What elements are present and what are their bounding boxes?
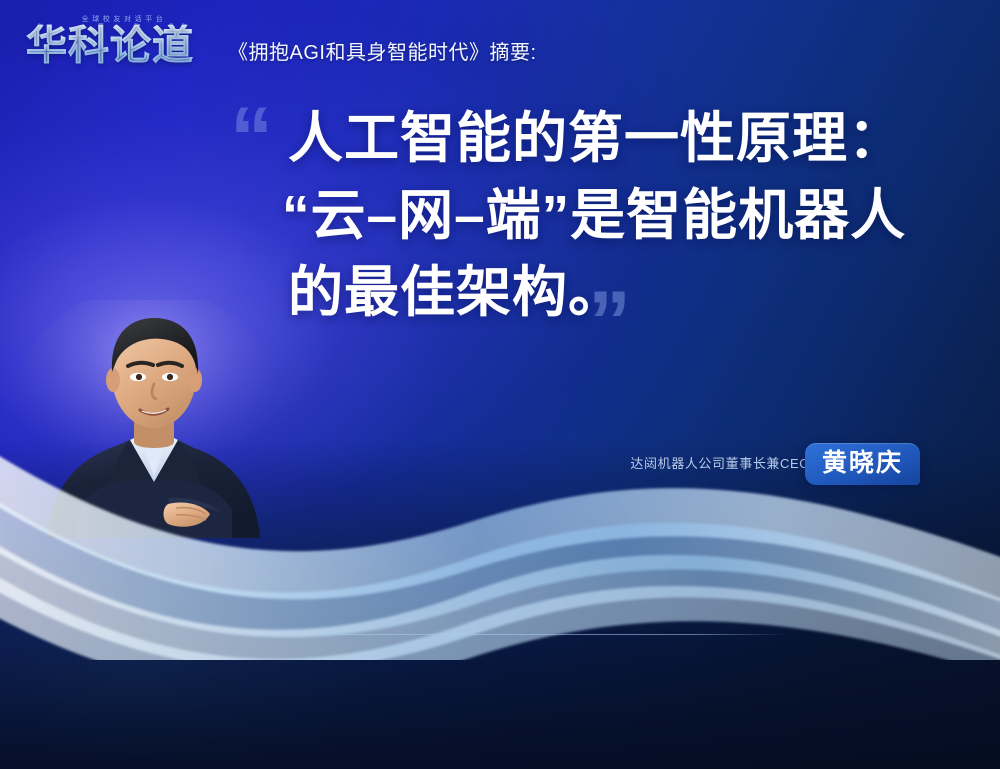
speaker-portrait (18, 300, 290, 600)
speaker-credit: 达闼机器人公司董事长兼CEO 黄晓庆 (600, 443, 920, 485)
speaker-name-badge: 黄晓庆 (805, 443, 920, 485)
quote-line-1: 人工智能的第一性原理： (288, 100, 976, 177)
quote-close-mark: ” (588, 290, 631, 355)
quote-block: “ 人工智能的第一性原理： “云–网–端”是智能机器人 的最佳架构。 ” (236, 100, 976, 331)
quote-line-3: 的最佳架构。 (288, 254, 976, 331)
quote-open-mark: “ (230, 106, 273, 171)
brand-logo: 全球校友对话平台 华科论道 (26, 14, 222, 72)
brand-logo-text: 华科论道 (26, 25, 222, 66)
quote-line-2: “云–网–端”是智能机器人 (282, 177, 976, 254)
header: 全球校友对话平台 华科论道 《拥抱AGI和具身智能时代》摘要: (0, 0, 1000, 88)
poster-root: 全球校友对话平台 华科论道 《拥抱AGI和具身智能时代》摘要: “ 人工智能的第… (0, 0, 1000, 769)
footer: 入群请咨询工作人员： 微信号 srh15029033920 (苏同学) 微信号 … (0, 638, 1000, 769)
header-subtitle: 《拥抱AGI和具身智能时代》摘要: (228, 36, 537, 65)
speaker-title: 达闼机器人公司董事长兼CEO (630, 453, 810, 472)
footer-divider (288, 634, 790, 635)
